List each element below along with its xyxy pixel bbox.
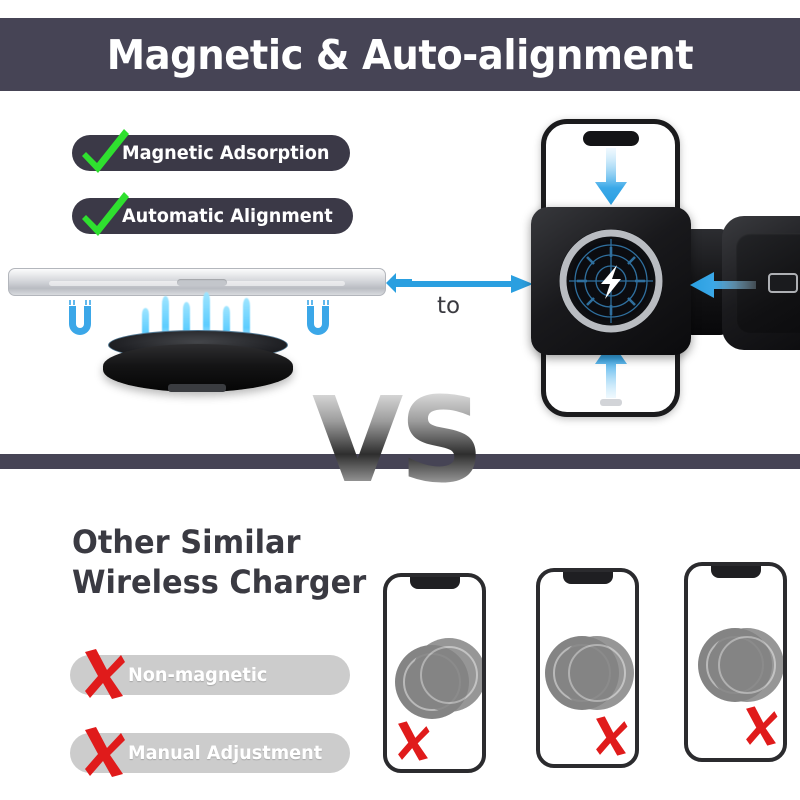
- horseshoe-magnet-icon: [62, 300, 98, 340]
- phone-speaker-slot: [177, 279, 227, 286]
- drawback-pill-manual-adjustment: Manual Adjustment: [70, 733, 350, 773]
- charging-pad-target: [557, 227, 665, 335]
- horseshoe-magnet-icon: [300, 300, 336, 340]
- feature-pill-label: Automatic Alignment: [122, 205, 333, 227]
- phone-misaligned-center: [536, 568, 639, 768]
- product-comparison-image: Magnetic & Auto-alignment Magnetic Adsor…: [0, 0, 800, 800]
- red-x-icon: [76, 724, 132, 780]
- magnetic-charger-module: [531, 207, 691, 355]
- lower-heading-line2: Wireless Charger: [72, 562, 366, 602]
- phone-notch: [711, 566, 761, 578]
- phone-charging-port: [600, 399, 622, 406]
- lower-section-heading: Other Similar Wireless Charger: [72, 522, 366, 602]
- transition-label: to: [437, 293, 460, 319]
- vs-label: VS: [312, 381, 480, 499]
- phone-notch: [563, 572, 613, 584]
- non-magnetic-pad-offset: [560, 636, 634, 710]
- phone-misaligned-left: [383, 573, 486, 773]
- transition-arrow-right: [395, 275, 533, 293]
- page-title: Magnetic & Auto-alignment: [107, 31, 693, 79]
- drawback-pill-non-magnetic: Non-magnetic: [70, 655, 350, 695]
- drawback-pill-label: Manual Adjustment: [128, 742, 322, 764]
- arrow-left-icon: [690, 272, 756, 298]
- arrow-down-icon: [594, 148, 628, 206]
- red-x-icon: [391, 719, 435, 763]
- lower-heading-line1: Other Similar: [72, 522, 366, 562]
- red-x-icon: [739, 704, 783, 748]
- feature-pill-magnetic-adsorption: Magnetic Adsorption: [72, 135, 350, 171]
- red-x-icon: [76, 646, 132, 702]
- feature-pill-label: Magnetic Adsorption: [122, 142, 329, 164]
- charging-puck-port: [168, 384, 226, 392]
- non-magnetic-pad-offset: [412, 638, 486, 712]
- drawback-pill-label: Non-magnetic: [128, 664, 267, 686]
- feature-pill-automatic-alignment: Automatic Alignment: [72, 198, 353, 234]
- phone-notch: [410, 577, 460, 589]
- non-magnetic-pad-offset: [710, 628, 784, 702]
- brick-port-icon: [768, 273, 798, 293]
- red-x-icon: [589, 714, 633, 758]
- phone-misaligned-right: [684, 562, 787, 762]
- arrow-left-small-icon: [386, 272, 412, 294]
- header-banner: Magnetic & Auto-alignment: [0, 18, 800, 91]
- phone-notch: [583, 131, 639, 146]
